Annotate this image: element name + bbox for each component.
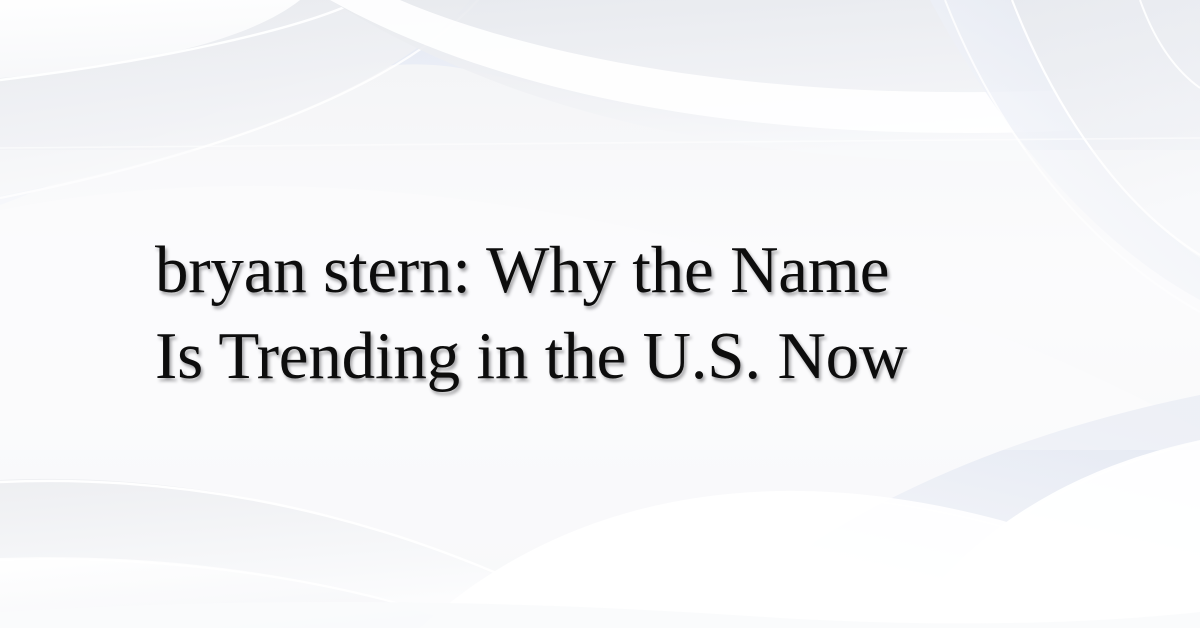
headline-line-2: Is Trending in the U.S. Now <box>155 314 790 400</box>
share-card: bryan stern: Why the Name Is Trending in… <box>0 0 1200 628</box>
headline-line-1: bryan stern: Why the Name <box>155 228 790 314</box>
page-title: bryan stern: Why the Name Is Trending in… <box>0 228 930 400</box>
headline-container: bryan stern: Why the Name Is Trending in… <box>0 0 1200 628</box>
